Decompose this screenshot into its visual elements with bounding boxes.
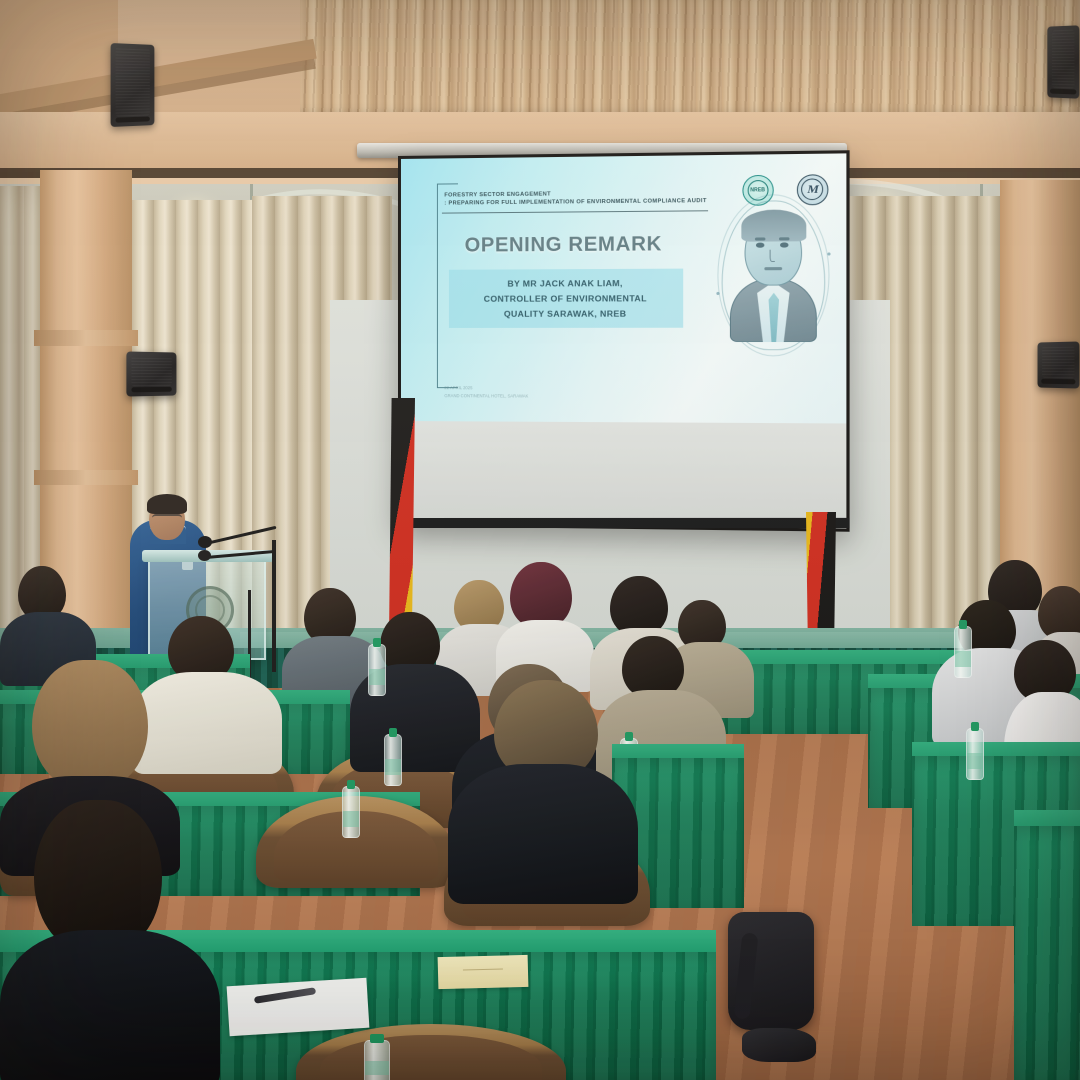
agency-logo-icon: M: [796, 174, 828, 205]
slide-byline-line2: CONTROLLER OF ENVIRONMENTAL: [484, 291, 647, 307]
slide-footer: 22 APRIL 2025 GRAND CONTINENTAL HOTEL, S…: [444, 385, 528, 401]
portrait-accent-dot: [716, 292, 719, 295]
speaker-portrait-illustration: [726, 208, 821, 343]
wall-speaker-icon: [111, 43, 155, 127]
water-bottle[interactable]: [954, 626, 972, 678]
presenter-hair: [147, 494, 187, 514]
presenter-eyeglasses-icon: [152, 514, 182, 522]
water-bottle[interactable]: [966, 728, 984, 780]
note-paper[interactable]: [227, 978, 370, 1036]
wall-speaker-icon: [126, 351, 176, 396]
slide-byline-line1: BY MR JACK ANAK LIAM,: [507, 276, 622, 292]
slide-kicker: FORESTRY SECTOR ENGAGEMENT : PREPARING F…: [444, 189, 706, 209]
portrait-accent-dot: [827, 252, 830, 255]
table-far-right-skirt: [1014, 826, 1080, 1080]
backpack: [728, 912, 814, 1030]
ceiling-slat-shading: [280, 0, 1080, 118]
water-bottle[interactable]: [368, 644, 386, 696]
water-bottle[interactable]: [342, 786, 360, 838]
wall-column-right: [1000, 180, 1080, 600]
microphone-head-icon: [198, 550, 211, 561]
portrait-mouth: [765, 267, 782, 270]
column-band: [34, 470, 138, 485]
conference-hall-photo: FORESTRY SECTOR ENGAGEMENT : PREPARING F…: [0, 0, 1080, 1080]
slide-title: OPENING REMARK: [401, 233, 728, 258]
projection-screen: FORESTRY SECTOR ENGAGEMENT : PREPARING F…: [398, 150, 850, 531]
cream-envelope[interactable]: [438, 955, 529, 989]
water-bottle[interactable]: [364, 1040, 390, 1080]
attendee-person-foreground: [0, 800, 220, 1080]
slide-footer-line2: GRAND CONTINENTAL HOTEL, SARAWAK: [444, 393, 528, 401]
screen-bottom-bar: [398, 518, 850, 528]
presentation-slide: FORESTRY SECTOR ENGAGEMENT : PREPARING F…: [401, 153, 846, 423]
screen-surface: FORESTRY SECTOR ENGAGEMENT : PREPARING F…: [401, 153, 846, 528]
nreb-logo-mark: NREB: [750, 187, 765, 193]
slide-byline-line3: QUALITY SARAWAK, NREB: [504, 306, 627, 321]
water-bottle[interactable]: [384, 734, 402, 786]
sarawak-flag-left: [389, 398, 415, 638]
portrait-eyebrow-right: [779, 238, 790, 241]
attendee-person: [448, 680, 638, 880]
portrait-eyebrow-left: [755, 238, 765, 241]
portrait-nose: [770, 250, 776, 262]
slide-divider-rule: [442, 210, 708, 213]
microphone-head-icon: [198, 536, 212, 548]
sarawak-flag-right: [806, 512, 836, 640]
wall-speaker-icon: [1038, 341, 1080, 388]
portrait-hair: [741, 209, 806, 242]
slide-footer-line1: 22 APRIL 2025: [444, 385, 528, 393]
slide-byline-band: BY MR JACK ANAK LIAM, CONTROLLER OF ENVI…: [449, 269, 683, 328]
slide-kicker-line2: : PREPARING FOR FULL IMPLEMENTATION OF E…: [444, 197, 706, 208]
screen-blank-area: [401, 421, 846, 529]
column-band: [34, 330, 138, 346]
wall-speaker-icon: [1047, 25, 1079, 98]
shoe: [742, 1028, 816, 1062]
